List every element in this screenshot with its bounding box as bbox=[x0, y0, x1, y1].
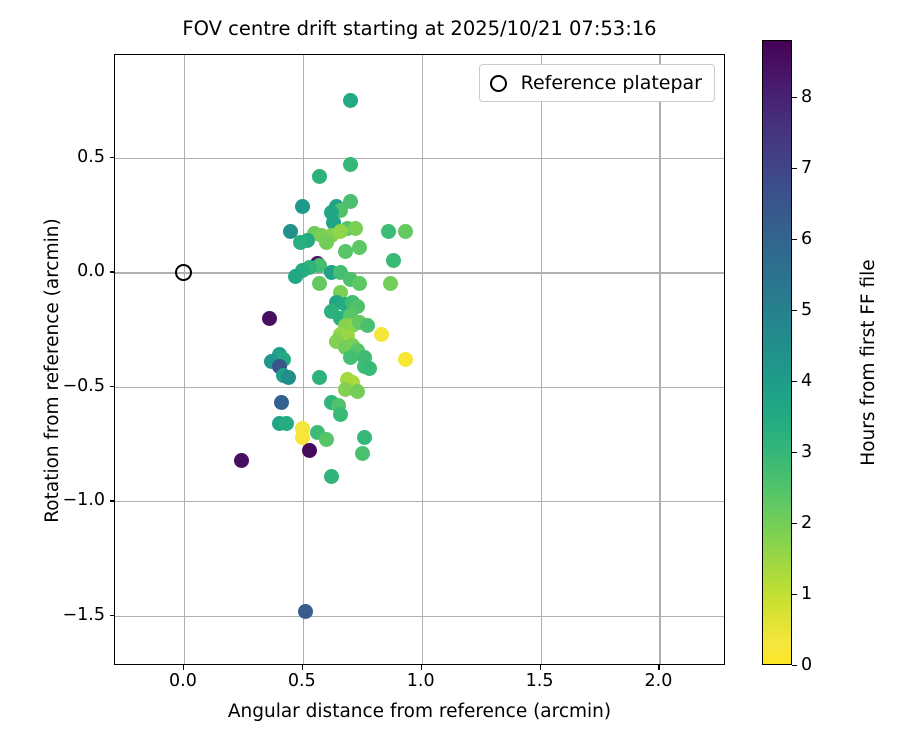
gridline-horizontal-2 bbox=[115, 387, 724, 388]
scatter-point bbox=[398, 224, 413, 239]
scatter-point bbox=[274, 395, 289, 410]
scatter-point bbox=[343, 93, 358, 108]
x-tick-mark-4 bbox=[658, 665, 659, 670]
x-tick-label-1: 0.5 bbox=[288, 671, 316, 691]
x-tick-label-3: 1.5 bbox=[526, 671, 554, 691]
y-tick-label-1: 0.0 bbox=[77, 261, 105, 281]
scatter-point bbox=[333, 407, 348, 422]
scatter-point bbox=[362, 361, 377, 376]
gridline-vertical-4 bbox=[659, 55, 660, 664]
page-title: FOV centre drift starting at 2025/10/21 … bbox=[114, 17, 725, 40]
scatter-point bbox=[381, 224, 396, 239]
y-tick-mark-0 bbox=[110, 157, 115, 158]
scatter-point bbox=[374, 327, 389, 342]
y-tick-mark-2 bbox=[110, 386, 115, 387]
x-tick-label-2: 1.0 bbox=[407, 671, 435, 691]
x-tick-mark-2 bbox=[421, 665, 422, 670]
colorbar-tick-mark-2 bbox=[792, 523, 797, 524]
scatter-point bbox=[288, 269, 303, 284]
scatter-point bbox=[386, 253, 401, 268]
colorbar-tick-label-7: 7 bbox=[801, 158, 812, 178]
x-tick-mark-0 bbox=[183, 665, 184, 670]
scatter-point bbox=[350, 384, 365, 399]
y-tick-mark-1 bbox=[110, 271, 115, 272]
colorbar-tick-label-1: 1 bbox=[801, 584, 812, 604]
colorbar-tick-mark-3 bbox=[792, 452, 797, 453]
x-tick-mark-1 bbox=[302, 665, 303, 670]
colorbar-tick-mark-8 bbox=[792, 97, 797, 98]
x-tick-mark-3 bbox=[540, 665, 541, 670]
scatter-point bbox=[357, 430, 372, 445]
scatter-point bbox=[312, 276, 327, 291]
scatter-point bbox=[234, 453, 249, 468]
colorbar-tick-label-3: 3 bbox=[801, 442, 812, 462]
y-tick-label-0: 0.5 bbox=[77, 147, 105, 167]
gridline-vertical-2 bbox=[422, 55, 423, 664]
colorbar-tick-label-8: 8 bbox=[801, 87, 812, 107]
scatter-point bbox=[319, 235, 334, 250]
gridline-horizontal-1 bbox=[115, 272, 724, 273]
y-tick-label-2: −0.5 bbox=[63, 376, 106, 396]
colorbar-tick-mark-5 bbox=[792, 310, 797, 311]
x-tick-label-0: 0.0 bbox=[169, 671, 197, 691]
colorbar-tick-label-2: 2 bbox=[801, 513, 812, 533]
colorbar-tick-mark-1 bbox=[792, 594, 797, 595]
colorbar bbox=[762, 40, 792, 665]
y-tick-mark-4 bbox=[110, 615, 115, 616]
scatter-point bbox=[398, 352, 413, 367]
legend-open-circle-icon bbox=[490, 75, 507, 92]
scatter-point bbox=[281, 370, 296, 385]
scatter-point bbox=[319, 432, 334, 447]
colorbar-tick-label-0: 0 bbox=[801, 655, 812, 675]
gridline-horizontal-3 bbox=[115, 501, 724, 502]
scatter-point bbox=[279, 416, 294, 431]
reference-platepar-marker bbox=[175, 264, 192, 281]
legend-label: Reference platepar bbox=[521, 72, 702, 94]
scatter-point bbox=[262, 311, 277, 326]
colorbar-tick-mark-0 bbox=[792, 665, 797, 666]
gridline-vertical-1 bbox=[303, 55, 304, 664]
figure: FOV centre drift starting at 2025/10/21 … bbox=[0, 0, 900, 750]
x-axis-label: Angular distance from reference (arcmin) bbox=[114, 701, 725, 722]
scatter-point bbox=[343, 350, 358, 365]
gridline-vertical-3 bbox=[541, 55, 542, 664]
scatter-point bbox=[295, 199, 310, 214]
legend[interactable]: Reference platepar bbox=[479, 64, 715, 102]
y-tick-label-3: −1.0 bbox=[63, 490, 106, 510]
colorbar-tick-mark-4 bbox=[792, 381, 797, 382]
gridline-vertical-0 bbox=[184, 55, 185, 664]
scatter-point bbox=[312, 169, 327, 184]
y-axis-label: Rotation from reference (arcmin) bbox=[42, 65, 63, 676]
colorbar-tick-label-6: 6 bbox=[801, 229, 812, 249]
colorbar-tick-mark-7 bbox=[792, 168, 797, 169]
scatter-point bbox=[302, 443, 317, 458]
scatter-point bbox=[333, 224, 348, 239]
colorbar-label: Hours from first FF file bbox=[858, 50, 879, 675]
gridline-horizontal-4 bbox=[115, 616, 724, 617]
scatter-point bbox=[293, 235, 308, 250]
colorbar-tick-mark-6 bbox=[792, 239, 797, 240]
gridline-horizontal-0 bbox=[115, 158, 724, 159]
scatter-point bbox=[312, 370, 327, 385]
scatter-point bbox=[355, 446, 370, 461]
scatter-point bbox=[298, 604, 313, 619]
colorbar-tick-label-4: 4 bbox=[801, 371, 812, 391]
y-tick-mark-3 bbox=[110, 500, 115, 501]
scatter-point bbox=[343, 157, 358, 172]
scatter-point bbox=[338, 244, 353, 259]
y-tick-label-4: −1.5 bbox=[63, 605, 106, 625]
x-tick-label-4: 2.0 bbox=[645, 671, 673, 691]
colorbar-tick-label-5: 5 bbox=[801, 300, 812, 320]
scatter-point bbox=[352, 240, 367, 255]
plot-axes: Reference platepar bbox=[114, 54, 725, 665]
scatter-point bbox=[324, 469, 339, 484]
scatter-point bbox=[352, 276, 367, 291]
scatter-point bbox=[360, 318, 375, 333]
scatter-point bbox=[383, 276, 398, 291]
scatter-point bbox=[348, 221, 363, 236]
